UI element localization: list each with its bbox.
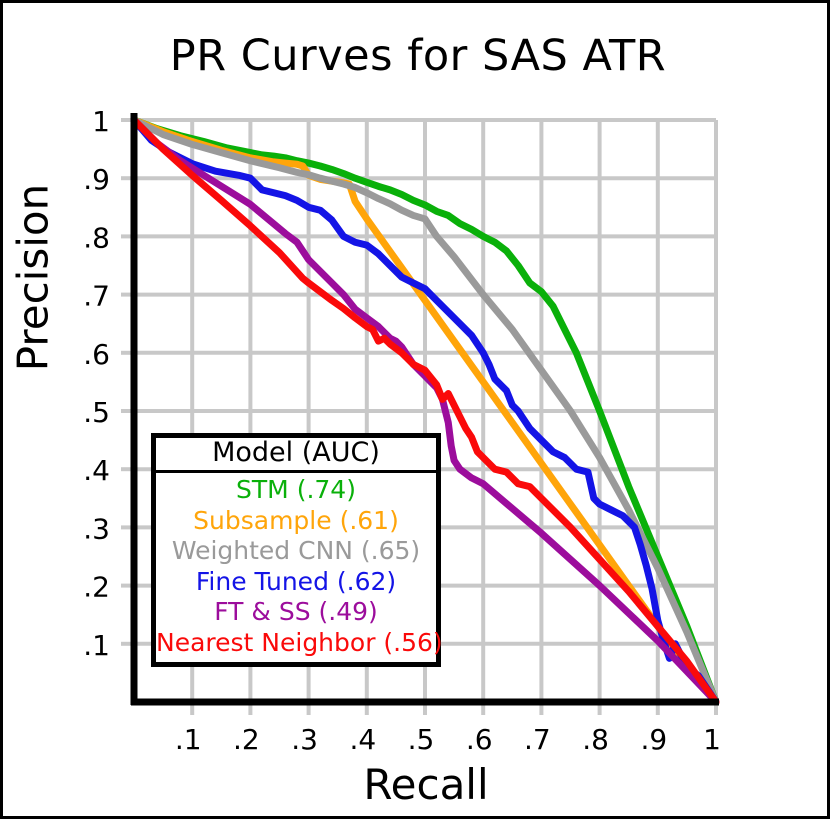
- y-tick-label: .5: [83, 396, 110, 429]
- legend-item: STM (.74): [156, 475, 436, 506]
- legend-item: Weighted CNN (.65): [156, 536, 436, 567]
- y-tick-label: .2: [83, 571, 110, 604]
- y-tick-label: .1: [83, 629, 110, 662]
- y-tick-label: .9: [83, 163, 110, 196]
- x-tick-label: .3: [291, 723, 318, 756]
- x-tick-label: .6: [466, 723, 493, 756]
- legend-item: Nearest Neighbor (.56): [156, 628, 436, 659]
- y-tick-label: .8: [83, 221, 110, 254]
- x-tick-label: .9: [640, 723, 667, 756]
- x-tick-label: 1: [703, 723, 721, 756]
- legend-items: STM (.74)Subsample (.61)Weighted CNN (.6…: [156, 473, 436, 662]
- y-tick-label: .3: [83, 512, 110, 545]
- legend-header: Model (AUC): [156, 438, 436, 473]
- x-tick-label: .8: [582, 723, 609, 756]
- pr-curve-plot: .1.2.3.4.5.6.7.8.911.9.8.7.6.5.4.3.2.1: [3, 3, 830, 819]
- y-tick-label: .6: [83, 338, 110, 371]
- x-tick-label: .5: [408, 723, 435, 756]
- legend-item: FT & SS (.49): [156, 597, 436, 628]
- chart-page: PR Curves for SAS ATR Precision Recall .…: [0, 0, 830, 819]
- x-tick-label: .7: [524, 723, 551, 756]
- x-tick-label: .2: [233, 723, 260, 756]
- x-tick-label: .4: [349, 723, 376, 756]
- y-tick-label: .7: [83, 280, 110, 313]
- legend-item: Fine Tuned (.62): [156, 567, 436, 598]
- legend: Model (AUC) STM (.74)Subsample (.61)Weig…: [151, 433, 441, 667]
- y-tick-label: 1: [92, 105, 110, 138]
- y-tick-label: .4: [83, 454, 110, 487]
- x-tick-label: .1: [175, 723, 202, 756]
- legend-item: Subsample (.61): [156, 506, 436, 537]
